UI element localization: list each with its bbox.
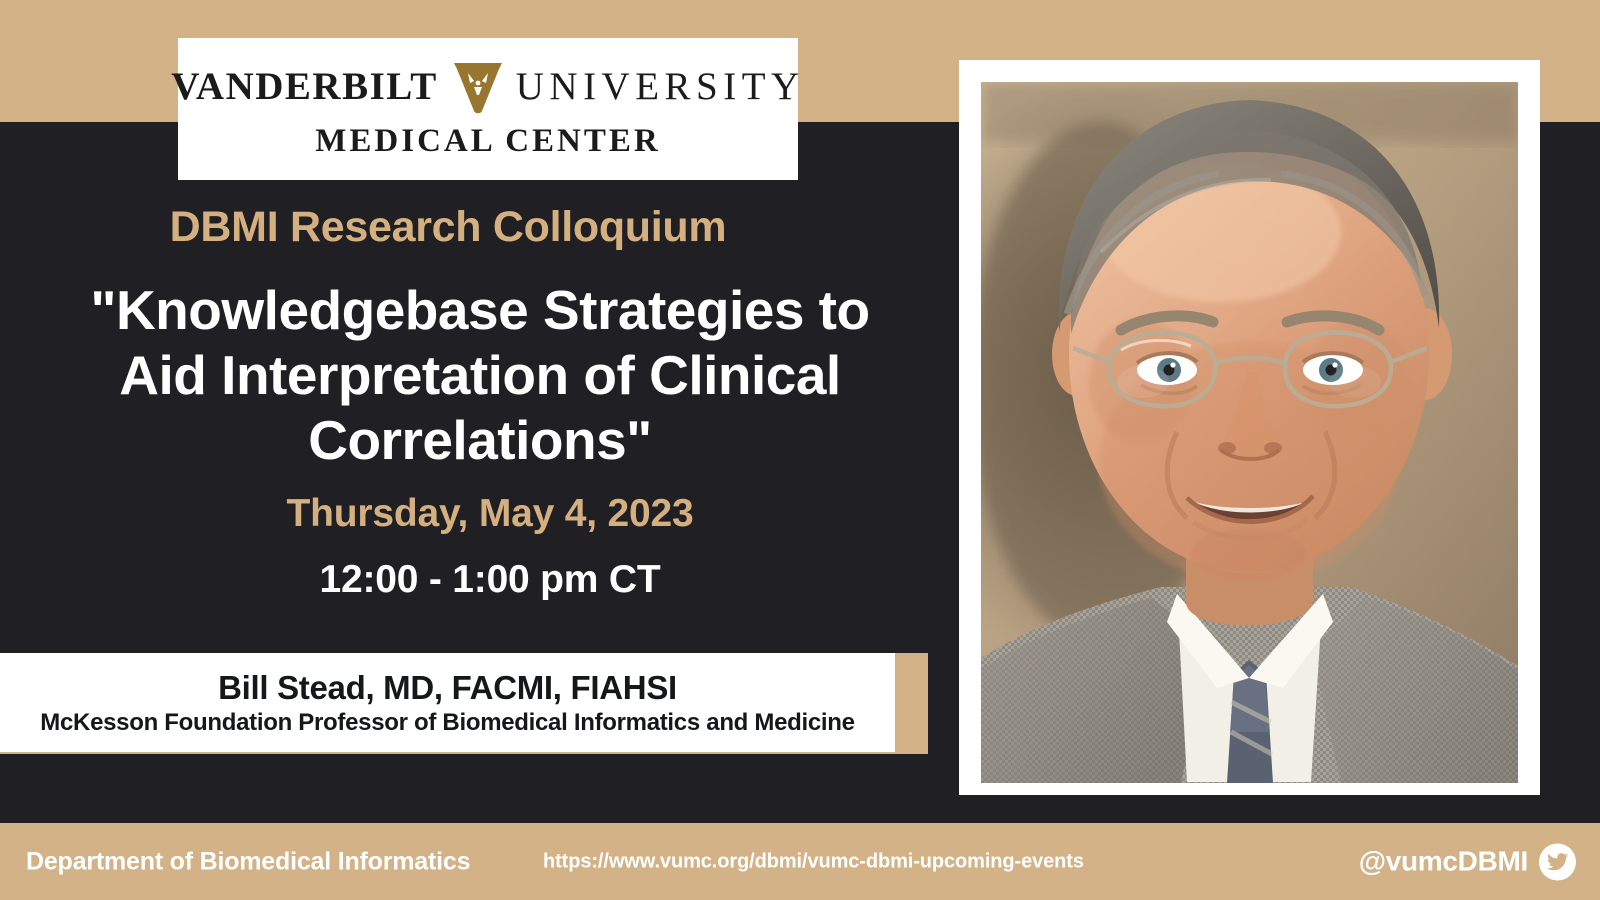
footer-bar: Department of Biomedical Informatics htt… bbox=[0, 823, 1600, 900]
event-date: Thursday, May 4, 2023 bbox=[0, 492, 980, 536]
speaker-photo bbox=[981, 82, 1518, 783]
speaker-name: Bill Stead, MD, FACMI, FIAHSI bbox=[218, 669, 677, 707]
speaker-box: Bill Stead, MD, FACMI, FIAHSI McKesson F… bbox=[0, 653, 895, 752]
footer-department: Department of Biomedical Informatics bbox=[26, 847, 470, 876]
talk-title: "Knowledgebase Strategies to Aid Interpr… bbox=[70, 278, 890, 473]
logo-word-vanderbilt: VANDERBILT bbox=[171, 64, 437, 109]
twitter-bird-icon[interactable] bbox=[1539, 843, 1576, 880]
event-time: 12:00 - 1:00 pm CT bbox=[0, 558, 980, 602]
twitter-handle[interactable]: @vumcDBMI bbox=[1359, 846, 1528, 878]
colloquium-series-heading: DBMI Research Colloquium bbox=[0, 203, 896, 252]
event-poster: VANDERBILT UNIVERSITY MEDICAL CENTER DBM… bbox=[0, 0, 1600, 900]
speaker-title: McKesson Foundation Professor of Biomedi… bbox=[40, 709, 854, 737]
speaker-photo-image bbox=[981, 82, 1518, 783]
logo-word-university: UNIVERSITY bbox=[516, 64, 805, 109]
vanderbilt-logo: VANDERBILT UNIVERSITY MEDICAL CENTER bbox=[178, 38, 798, 180]
vanderbilt-v-monogram-icon bbox=[452, 59, 504, 115]
speaker-photo-frame bbox=[959, 60, 1540, 795]
footer-url[interactable]: https://www.vumc.org/dbmi/vumc-dbmi-upco… bbox=[543, 850, 1084, 873]
logo-line-two: MEDICAL CENTER bbox=[315, 123, 660, 160]
footer-social[interactable]: @vumcDBMI bbox=[1359, 843, 1576, 880]
logo-line-one: VANDERBILT UNIVERSITY bbox=[171, 59, 804, 115]
